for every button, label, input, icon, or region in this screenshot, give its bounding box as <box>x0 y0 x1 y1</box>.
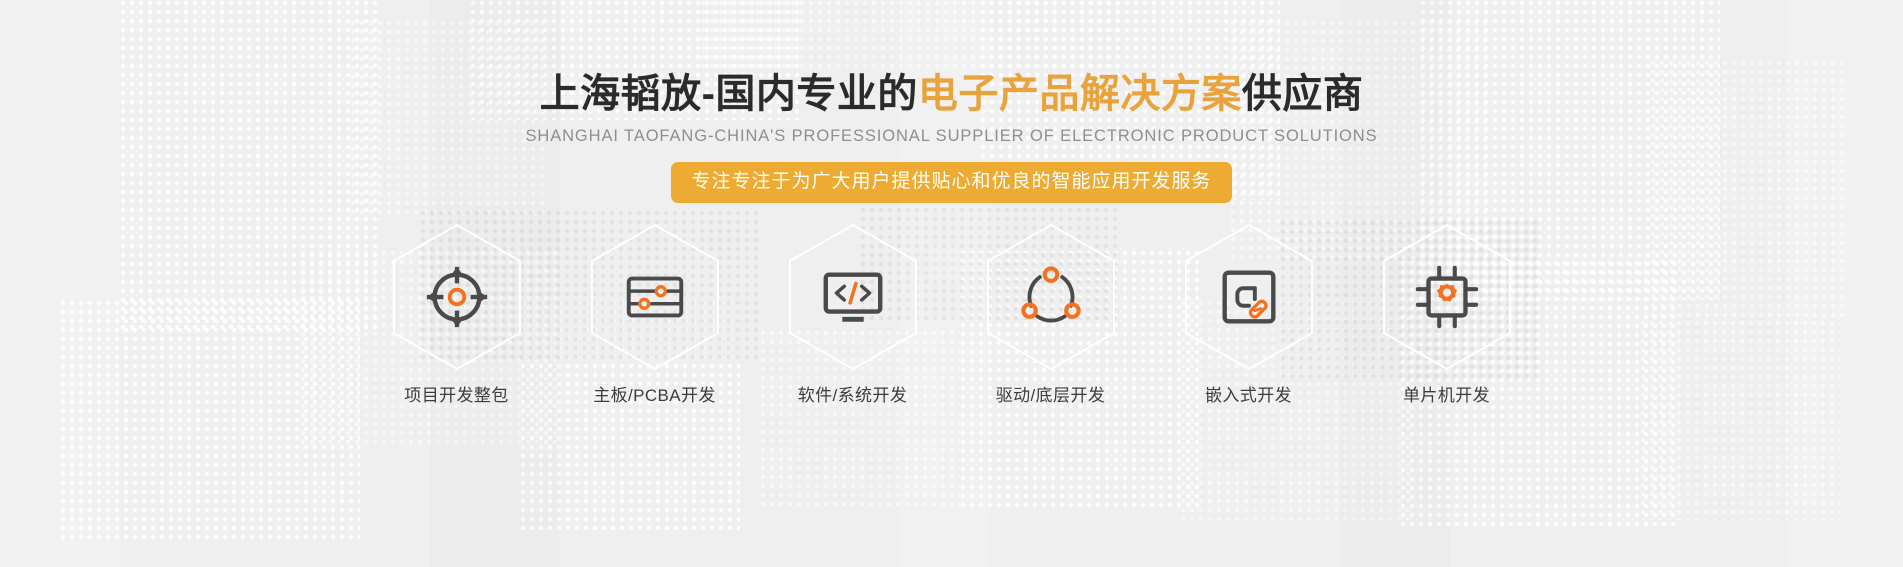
headline-accent: 电子产品解决方案 <box>918 72 1242 116</box>
feature-label: 单片机开发 <box>1403 384 1490 408</box>
hex-frame <box>391 222 523 372</box>
feature-item-software-system[interactable]: 软件/系统开发 <box>773 222 933 408</box>
headline-tail: 供应商 <box>1242 72 1364 116</box>
hex-frame <box>985 222 1117 372</box>
feature-label: 主板/PCBA开发 <box>593 384 716 408</box>
feature-label: 软件/系统开发 <box>798 384 908 408</box>
pcb-board-icon <box>620 262 690 332</box>
microcontroller-gear-icon <box>1412 262 1482 332</box>
page-title: 上海韬放-国内专业的电子产品解决方案供应商 <box>0 68 1903 120</box>
hex-frame <box>589 222 721 372</box>
crosshair-target-icon <box>422 262 492 332</box>
feature-list: 项目开发整包 主板/PCBA开发 <box>0 222 1903 408</box>
feature-item-pcba[interactable]: 主板/PCBA开发 <box>575 222 735 408</box>
monitor-code-icon <box>818 262 888 332</box>
hex-frame <box>1381 222 1513 372</box>
node-network-icon <box>1016 262 1086 332</box>
hero-banner: 上海韬放-国内专业的电子产品解决方案供应商 SHANGHAI TAOFANG-C… <box>0 0 1903 567</box>
feature-label: 驱动/底层开发 <box>996 384 1106 408</box>
feature-item-mcu[interactable]: 单片机开发 <box>1367 222 1527 408</box>
feature-label: 嵌入式开发 <box>1205 384 1292 408</box>
hex-frame <box>1183 222 1315 372</box>
feature-label: 项目开发整包 <box>404 384 508 408</box>
tagline-badge: 专注专注于为广大用户提供贴心和优良的智能应用开发服务 <box>671 162 1231 203</box>
hex-frame <box>787 222 919 372</box>
feature-item-driver-lowlevel[interactable]: 驱动/底层开发 <box>971 222 1131 408</box>
feature-item-embedded[interactable]: 嵌入式开发 <box>1169 222 1329 408</box>
tagline-row: 专注专注于为广大用户提供贴心和优良的智能应用开发服务 <box>0 162 1903 203</box>
headline-lead: 上海韬放-国内专业的 <box>540 72 918 116</box>
hero-text-block: 上海韬放-国内专业的电子产品解决方案供应商 SHANGHAI TAOFANG-C… <box>0 68 1903 203</box>
embedded-chip-link-icon <box>1214 262 1284 332</box>
page-subtitle: SHANGHAI TAOFANG-CHINA'S PROFESSIONAL SU… <box>0 125 1903 147</box>
feature-item-project-package[interactable]: 项目开发整包 <box>377 222 537 408</box>
